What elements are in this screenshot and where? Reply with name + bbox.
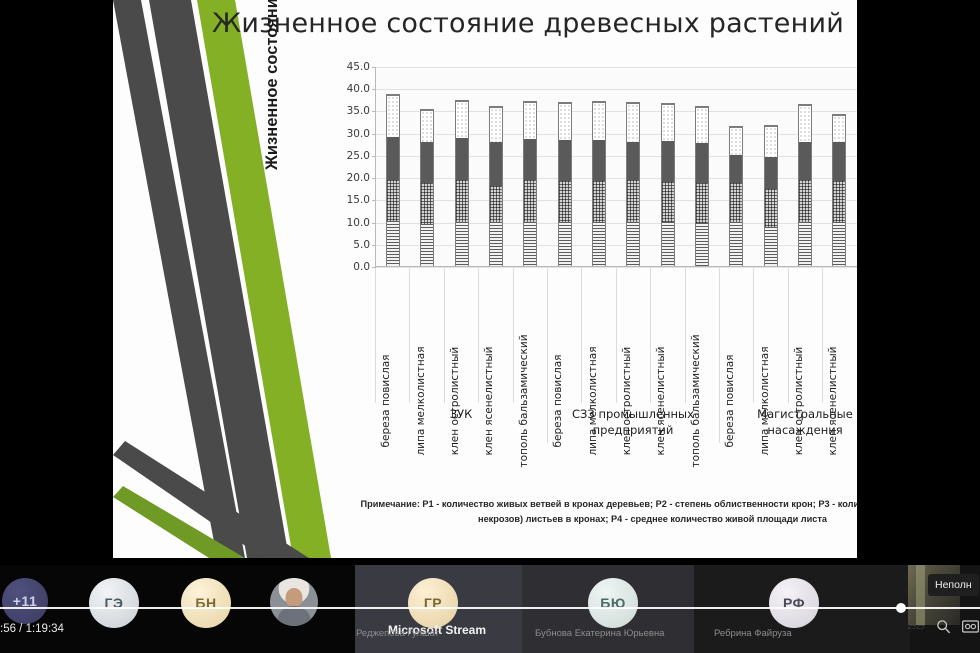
bar-segment-p2 bbox=[662, 182, 674, 222]
bar-segment-p3 bbox=[765, 157, 777, 188]
avatar-photo-head bbox=[286, 588, 303, 607]
bar-segment-p4 bbox=[490, 107, 502, 143]
avatar-photo-body bbox=[277, 606, 311, 626]
fullscreen-icon[interactable]: ▱▱ bbox=[908, 620, 925, 633]
stacked-bar[interactable] bbox=[386, 94, 400, 266]
bar-slot bbox=[445, 67, 479, 266]
y-axis-tick-label: 15.0 bbox=[347, 194, 370, 206]
stacked-bar[interactable] bbox=[695, 106, 709, 266]
bar-segment-p4 bbox=[456, 101, 468, 138]
stacked-bar[interactable] bbox=[455, 100, 469, 266]
y-axis-tick-label: 40.0 bbox=[347, 83, 370, 95]
bar-segment-p1 bbox=[559, 222, 571, 266]
bar-segment-p2 bbox=[456, 180, 468, 222]
x-axis-labels: береза повислаялипа мелколистнаяклен ост… bbox=[375, 268, 857, 403]
bar-slot bbox=[754, 67, 788, 266]
bar-segment-p4 bbox=[730, 127, 742, 155]
bar-segment-p4 bbox=[833, 115, 845, 142]
bar-segment-p2 bbox=[387, 180, 399, 221]
bar-slot bbox=[651, 67, 685, 266]
presentation-slide: Жизненное состояние древесных растений Ж… bbox=[113, 0, 857, 558]
x-label-slot: клен ясенелистный bbox=[478, 268, 512, 403]
bar-segment-p1 bbox=[421, 224, 433, 266]
x-axis-tick bbox=[822, 268, 823, 403]
participant-name-rf: Ребрина Файруза bbox=[714, 628, 792, 639]
bar-segment-p3 bbox=[730, 155, 742, 182]
x-label-slot: клен ясенелистный bbox=[650, 268, 684, 403]
bar-segment-p1 bbox=[730, 222, 742, 266]
bar-segment-p2 bbox=[524, 180, 536, 222]
bar-segment-p2 bbox=[730, 183, 742, 223]
seek-bar-handle[interactable] bbox=[896, 603, 906, 613]
bar-segment-p3 bbox=[456, 138, 468, 180]
bar-segment-p1 bbox=[490, 222, 502, 266]
player-bottom-bar bbox=[0, 565, 980, 653]
player-controls: ▱▱ bbox=[908, 619, 979, 634]
bar-series-container bbox=[376, 67, 857, 266]
x-label-slot: береза повислая bbox=[375, 268, 409, 403]
bar-segment-p4 bbox=[627, 103, 639, 142]
x-axis-tick bbox=[513, 268, 514, 403]
bar-segment-p3 bbox=[490, 142, 502, 186]
stacked-bar[interactable] bbox=[420, 109, 434, 266]
bar-segment-p4 bbox=[559, 103, 571, 140]
seek-bar[interactable] bbox=[0, 607, 980, 609]
x-label-slot: береза повислая bbox=[547, 268, 581, 403]
participant-name-gr: Реджепова Гулшат bbox=[356, 628, 439, 639]
bar-segment-p3 bbox=[559, 140, 571, 182]
bar-slot bbox=[548, 67, 582, 266]
x-axis-tick bbox=[375, 268, 376, 403]
x-axis-tick bbox=[478, 268, 479, 403]
bar-segment-p3 bbox=[421, 142, 433, 183]
participant-name-bu: Бубнова Екатерина Юрьевна bbox=[535, 628, 664, 639]
bar-segment-p1 bbox=[833, 222, 845, 266]
stacked-bar[interactable] bbox=[798, 104, 812, 266]
x-label-slot: клен остролистный bbox=[616, 268, 650, 403]
bar-segment-p3 bbox=[799, 142, 811, 180]
x-label-slot: липа мелколистная bbox=[409, 268, 443, 403]
bar-segment-p2 bbox=[833, 181, 845, 222]
x-axis-tick bbox=[753, 268, 754, 403]
bar-segment-p4 bbox=[696, 107, 708, 143]
bar-segment-p2 bbox=[627, 180, 639, 222]
avatar-rf[interactable]: РФ bbox=[769, 578, 819, 628]
slide-decoration bbox=[113, 0, 343, 558]
bar-segment-p4 bbox=[421, 110, 433, 143]
y-axis-tick-label: 35.0 bbox=[347, 105, 370, 117]
avatar-overflow-count[interactable]: +11 bbox=[2, 578, 48, 624]
bar-segment-p3 bbox=[524, 139, 536, 180]
bar-segment-p1 bbox=[799, 222, 811, 266]
bar-segment-p4 bbox=[524, 102, 536, 139]
bar-segment-p2 bbox=[421, 183, 433, 223]
bar-segment-p1 bbox=[456, 222, 468, 266]
bar-segment-p4 bbox=[765, 126, 777, 157]
bar-segment-p2 bbox=[490, 186, 502, 222]
stream-video-player: Жизненное состояние древесных растений Ж… bbox=[0, 0, 980, 653]
group-label: Магистральные насаждения bbox=[719, 403, 857, 449]
search-icon[interactable] bbox=[936, 619, 951, 634]
y-axis-tick-label: 10.0 bbox=[347, 217, 370, 229]
bar-segment-p3 bbox=[387, 137, 399, 180]
y-axis-tick-label: 30.0 bbox=[347, 128, 370, 140]
x-label-slot: клен остролистный bbox=[788, 268, 822, 403]
bar-slot bbox=[685, 67, 719, 266]
x-axis-tick bbox=[719, 268, 720, 403]
tooltip: Неполн bbox=[928, 574, 979, 596]
x-label-slot: береза повислая bbox=[719, 268, 753, 403]
bar-segment-p1 bbox=[387, 221, 399, 267]
bar-slot bbox=[582, 67, 616, 266]
bar-segment-p1 bbox=[662, 222, 674, 266]
y-axis-tick-label: 5.0 bbox=[353, 239, 370, 251]
bar-slot bbox=[376, 67, 410, 266]
bar-segment-p2 bbox=[559, 181, 571, 222]
bar-segment-p1 bbox=[524, 222, 536, 266]
bar-segment-p3 bbox=[696, 143, 708, 183]
x-axis-tick bbox=[547, 268, 548, 403]
avatar-bn[interactable]: БН bbox=[181, 578, 231, 628]
stacked-bar[interactable] bbox=[764, 125, 778, 266]
y-axis-tick-label: 20.0 bbox=[347, 172, 370, 184]
bar-segment-p1 bbox=[593, 222, 605, 266]
bar-segment-p3 bbox=[593, 140, 605, 181]
x-axis-tick bbox=[616, 268, 617, 403]
stacked-bar[interactable] bbox=[489, 106, 503, 266]
bar-segment-p1 bbox=[696, 223, 708, 266]
x-axis-tick bbox=[685, 268, 686, 403]
bar-segment-p4 bbox=[662, 104, 674, 142]
stacked-bar[interactable] bbox=[558, 102, 572, 266]
avatar-bu[interactable]: БЮ bbox=[588, 578, 638, 628]
stacked-bar[interactable] bbox=[592, 101, 606, 266]
x-axis-tick bbox=[409, 268, 410, 403]
x-axis-tick bbox=[444, 268, 445, 403]
bar-segment-p3 bbox=[662, 141, 674, 182]
x-label-slot: клен остролистный bbox=[444, 268, 478, 403]
bar-segment-p3 bbox=[627, 142, 639, 180]
stacked-bar[interactable] bbox=[626, 102, 640, 266]
stacked-bar[interactable] bbox=[729, 126, 743, 266]
x-axis-tick bbox=[581, 268, 582, 403]
avatar-photo[interactable] bbox=[270, 578, 318, 626]
bar-slot bbox=[719, 67, 753, 266]
y-axis-tick-label: 25.0 bbox=[347, 150, 370, 162]
captions-icon[interactable] bbox=[962, 620, 979, 633]
bar-segment-p4 bbox=[387, 95, 399, 137]
x-axis-tick bbox=[788, 268, 789, 403]
bar-segment-p2 bbox=[696, 183, 708, 223]
bar-segment-p1 bbox=[627, 222, 639, 266]
stacked-bar[interactable] bbox=[832, 114, 846, 266]
slide-title: Жизненное состояние древесных растений bbox=[208, 8, 848, 39]
bar-slot bbox=[616, 67, 650, 266]
timecode: :56 / 1:19:34 bbox=[0, 623, 120, 635]
bar-segment-p4 bbox=[593, 102, 605, 140]
plot-area: 0.05.010.015.020.025.030.035.040.045.0 bbox=[375, 67, 857, 267]
group-label: СЗЗ промышленных предприятий bbox=[547, 403, 719, 449]
y-axis-tick-label: 0.0 bbox=[353, 261, 370, 273]
bar-slot bbox=[513, 67, 547, 266]
x-axis-group-labels: ЗУКСЗЗ промышленных предприятийМагистрал… bbox=[375, 403, 857, 449]
x-label-slot: тополь бальзамический bbox=[513, 268, 547, 403]
x-label-slot: липа мелколистная bbox=[753, 268, 787, 403]
bar-slot bbox=[479, 67, 513, 266]
x-label-slot: тополь бальзамический bbox=[685, 268, 719, 403]
x-label-slot: липа мелколистная bbox=[581, 268, 615, 403]
slide-note: Примечание: Р1 - количество живых ветвей… bbox=[345, 497, 857, 527]
bar-segment-p2 bbox=[765, 189, 777, 227]
bar-segment-p3 bbox=[833, 142, 845, 181]
stacked-bar[interactable] bbox=[523, 101, 537, 266]
group-label: ЗУК bbox=[375, 403, 547, 449]
bar-segment-p2 bbox=[799, 180, 811, 222]
bar-segment-p4 bbox=[799, 105, 811, 142]
y-axis-tick-label: 45.0 bbox=[347, 61, 370, 73]
x-axis-tick bbox=[650, 268, 651, 403]
bar-segment-p2 bbox=[593, 181, 605, 222]
x-label-slot: клен ясенелистный bbox=[822, 268, 856, 403]
y-axis-title: Жизненное состояние в баллах bbox=[263, 0, 282, 170]
bar-slot bbox=[788, 67, 822, 266]
bar-slot bbox=[822, 67, 856, 266]
avatar-gr[interactable]: ГР bbox=[408, 578, 458, 628]
stacked-bar-chart: 0.05.010.015.020.025.030.035.040.045.0 б… bbox=[327, 62, 857, 482]
bar-slot bbox=[410, 67, 444, 266]
bar-segment-p1 bbox=[765, 227, 777, 266]
avatar-ge[interactable]: ГЭ bbox=[89, 578, 139, 628]
stacked-bar[interactable] bbox=[661, 103, 675, 266]
